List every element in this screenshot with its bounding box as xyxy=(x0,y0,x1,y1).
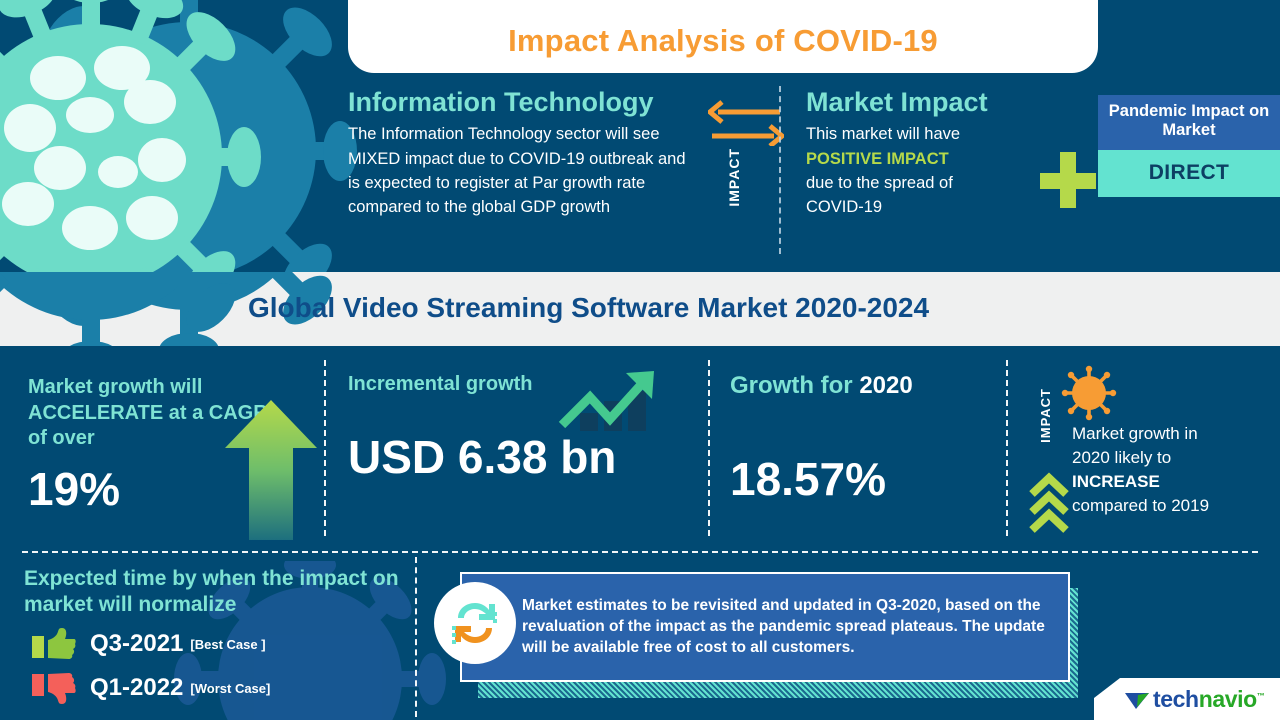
title-banner: Impact Analysis of COVID-19 xyxy=(348,0,1098,73)
virus-icon xyxy=(1060,364,1118,422)
logo-text-part1: tech xyxy=(1153,686,1199,712)
plus-icon xyxy=(1040,152,1096,208)
up-arrow-icon xyxy=(225,400,317,540)
badge-title: Pandemic Impact on Market xyxy=(1098,95,1280,150)
metric-growth-label-prefix: Growth for xyxy=(730,372,859,399)
impact-emphasis: INCREASE xyxy=(1072,472,1160,491)
metric-growth-label-year: 2020 xyxy=(859,372,912,399)
bidirectional-arrow-icon xyxy=(708,100,784,146)
metric-divider-2 xyxy=(708,360,710,536)
logo-trademark: ™ xyxy=(1257,691,1265,700)
infographic-page: Impact Analysis of COVID-19 Information … xyxy=(0,0,1280,720)
impact-panel: IMPACT Market growth in 2020 likely to I… xyxy=(1018,360,1280,545)
information-technology-column: Information Technology The Information T… xyxy=(348,88,700,219)
market-impact-line2: due to the spread of xyxy=(806,171,1036,195)
header-band: Impact Analysis of COVID-19 Information … xyxy=(0,0,1280,272)
badge-value: DIRECT xyxy=(1098,150,1280,197)
section-divider xyxy=(22,551,1258,553)
it-heading: Information Technology xyxy=(348,88,700,116)
logo-text-part2: navio xyxy=(1199,686,1257,712)
impact-line-3: compared to 2019 xyxy=(1072,496,1209,515)
normalize-case-best-quarter: Q3-2021 xyxy=(90,630,183,658)
pandemic-impact-badge: Pandemic Impact on Market DIRECT xyxy=(1098,95,1280,197)
market-impact-heading: Market Impact xyxy=(806,88,1036,116)
normalize-case-worst-tag: [Worst Case] xyxy=(190,681,270,696)
impact-panel-vertical-label: IMPACT xyxy=(1038,388,1060,443)
normalize-title: Expected time by when the impact on mark… xyxy=(24,566,424,617)
metric-divider-3 xyxy=(1006,360,1008,536)
impact-vertical-label: IMPACT xyxy=(726,148,750,207)
thumbs-down-icon xyxy=(32,672,76,704)
technavio-logo: technavio™ xyxy=(1124,686,1264,713)
note-text: Market estimates to be revisited and upd… xyxy=(522,596,1050,659)
metric-growth-value: 18.57% xyxy=(730,456,995,502)
normalize-case-worst: Q1-2022 [Worst Case] xyxy=(32,672,270,704)
page-title: Impact Analysis of COVID-19 xyxy=(508,23,938,73)
market-impact-highlight: POSITIVE IMPACT xyxy=(806,147,1036,171)
impact-line-2: 2020 likely to xyxy=(1072,448,1171,467)
header-divider xyxy=(779,86,781,254)
market-impact-column: Market Impact This market will have POSI… xyxy=(806,88,1036,219)
normalize-case-best-tag: [Best Case ] xyxy=(190,637,265,652)
market-title: Global Video Streaming Software Market 2… xyxy=(248,292,929,324)
technavio-logo-mark xyxy=(1124,689,1150,711)
impact-line-1: Market growth in xyxy=(1072,424,1198,443)
market-impact-line1: This market will have xyxy=(806,122,1036,146)
metric-growth-label: Growth for 2020 xyxy=(730,372,995,400)
normalize-case-best: Q3-2021 [Best Case ] xyxy=(32,628,266,660)
normalize-case-worst-quarter: Q1-2022 xyxy=(90,674,183,702)
impact-panel-text: Market growth in 2020 likely to INCREASE… xyxy=(1072,422,1278,519)
metric-incremental-value: USD 6.38 bn xyxy=(348,434,678,480)
market-impact-line3: COVID-19 xyxy=(806,195,1036,219)
it-body: The Information Technology sector will s… xyxy=(348,122,700,219)
metric-growth-2020: Growth for 2020 18.57% xyxy=(730,372,995,502)
growth-chart-icon xyxy=(556,367,668,435)
thumbs-up-icon xyxy=(32,628,76,660)
metric-divider-1 xyxy=(324,360,326,536)
virus-illustration xyxy=(0,0,360,272)
refresh-icon xyxy=(448,596,502,650)
chevrons-up-icon xyxy=(1028,472,1070,534)
